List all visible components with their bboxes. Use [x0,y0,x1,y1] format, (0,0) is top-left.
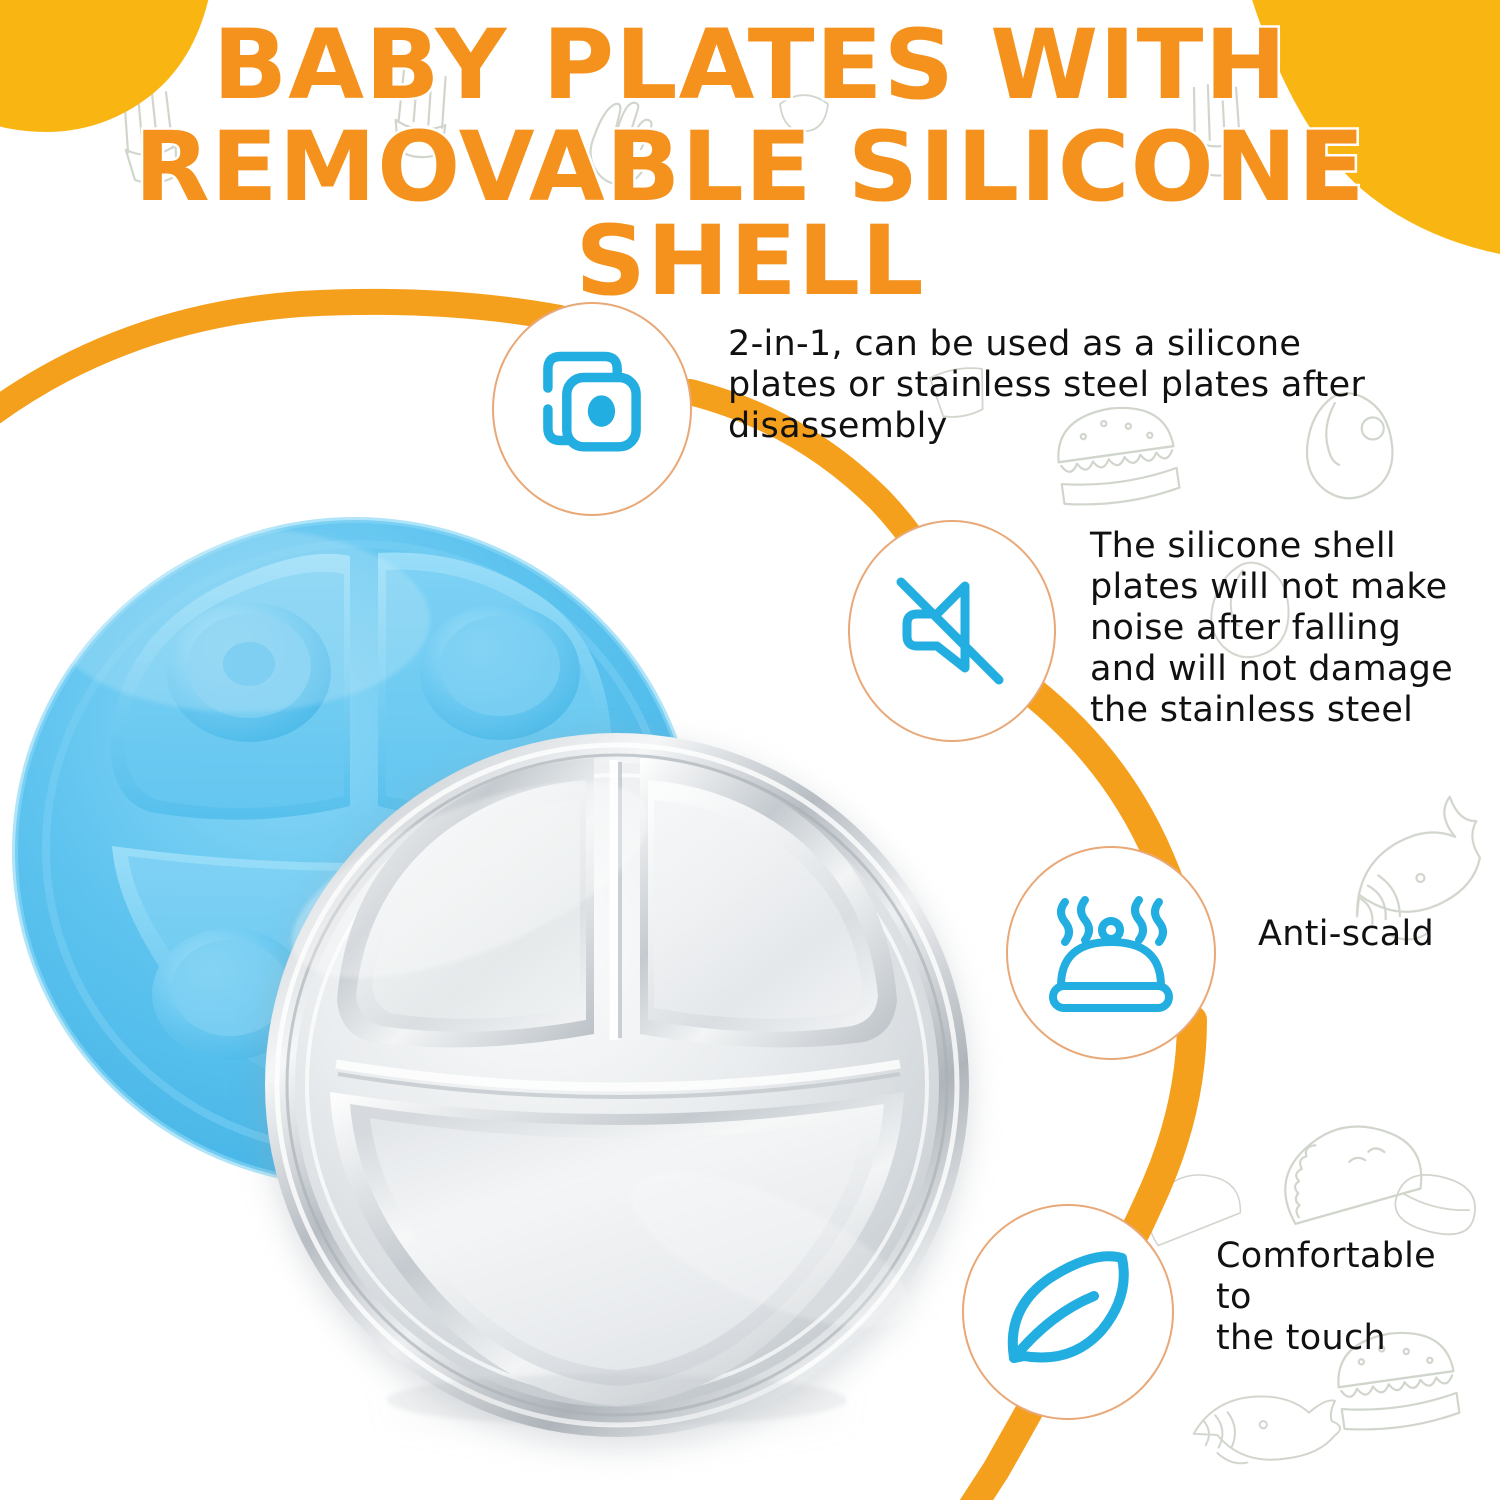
feature-callouts: 2-in-1, can be used as a silicone plates… [0,0,1500,1500]
icon-bubble-no-noise [848,520,1056,742]
feature-callout-two-in-one: 2-in-1, can be used as a silicone plates… [492,302,1368,516]
feature-callout-no-noise: The silicone shell plates will not make … [848,520,1490,742]
feature-text-comfortable: Comfortable to the touch [1216,1236,1500,1359]
feature-callout-comfortable: Comfortable to the touch [962,1204,1500,1420]
feature-callout-anti-scald: Anti-scald [1006,846,1500,1060]
feature-text-two-in-one: 2-in-1, can be used as a silicone plates… [728,324,1368,447]
leaf-icon [998,1250,1138,1374]
icon-bubble-anti-scald [1006,846,1216,1060]
feature-text-no-noise: The silicone shell plates will not make … [1090,526,1490,731]
food-cloche-steam-icon [1041,886,1181,1020]
feature-text-anti-scald: Anti-scald [1258,914,1500,955]
infographic-canvas: BABY PLATES WITH REMOVABLE SILICONE SHEL… [0,0,1500,1500]
stacked-squares-icon [529,346,655,472]
icon-bubble-comfortable [962,1204,1174,1420]
mute-speaker-icon [886,566,1018,696]
icon-bubble-two-in-one [492,302,692,516]
